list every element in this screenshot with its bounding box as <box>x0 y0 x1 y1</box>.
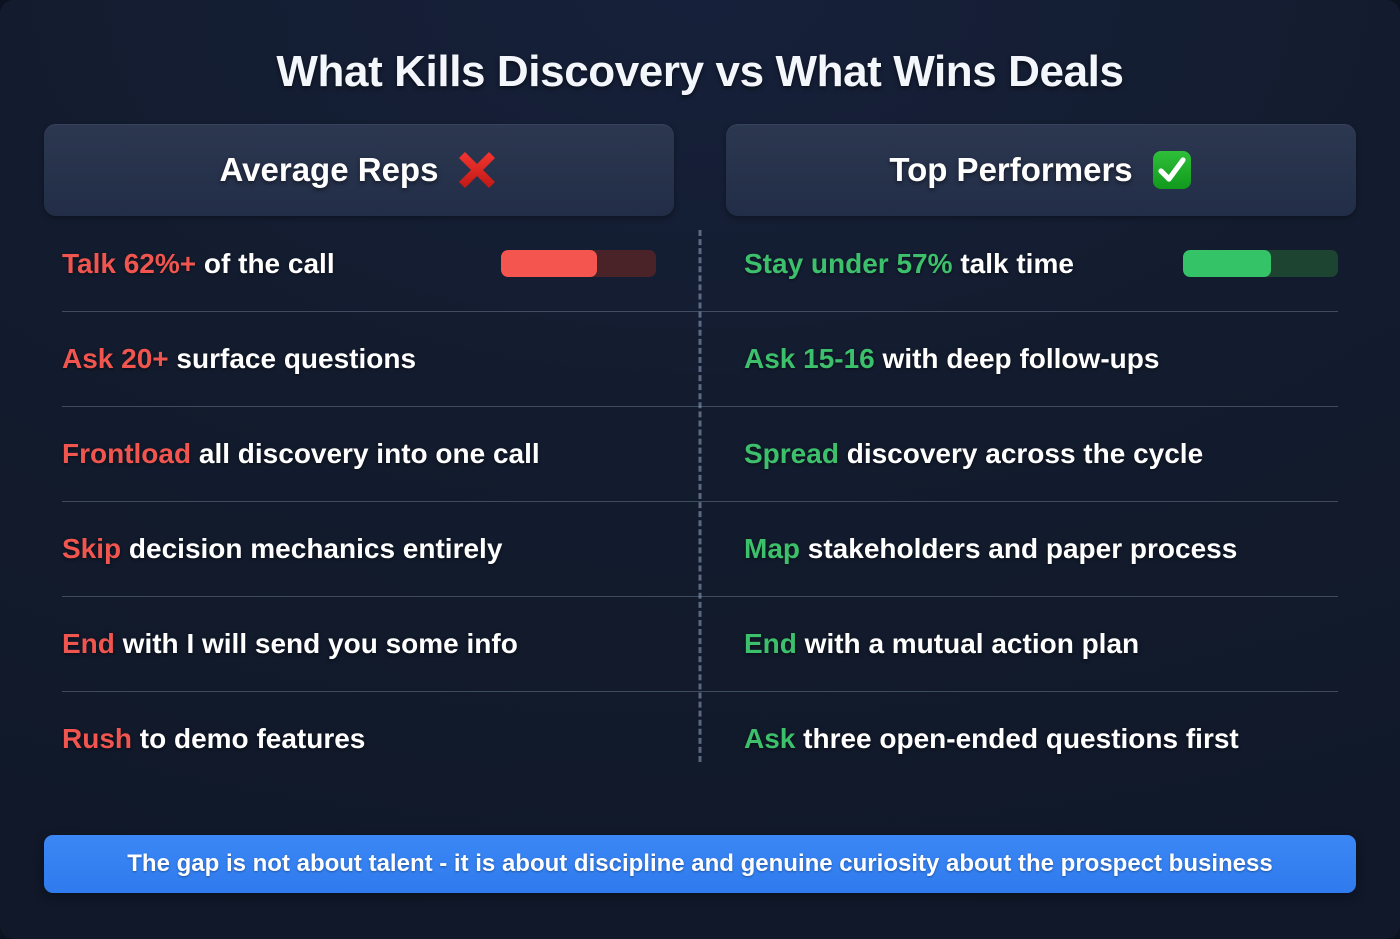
row-rest: with deep follow-ups <box>883 343 1160 374</box>
row-highlight: Rush <box>62 723 132 754</box>
row-text: Rush to demo features <box>62 723 365 755</box>
infographic-root: What Kills Discovery vs What Wins Deals … <box>0 0 1400 939</box>
column-header-average-reps: Average Reps <box>44 124 674 216</box>
row-highlight: Stay under 57% <box>744 248 953 279</box>
row-highlight: Ask <box>744 723 795 754</box>
cell-average-reps: Frontload all discovery into one call <box>44 406 674 501</box>
page-title: What Kills Discovery vs What Wins Deals <box>0 0 1400 96</box>
cell-average-reps: End with I will send you some info <box>44 596 674 691</box>
row-highlight: End <box>62 628 115 659</box>
row-highlight: Map <box>744 533 800 564</box>
row-highlight: Ask 15-16 <box>744 343 875 374</box>
talk-time-bar-average <box>501 250 656 277</box>
row-rest: all discovery into one call <box>199 438 540 469</box>
cell-top-performers: End with a mutual action plan <box>726 596 1356 691</box>
talk-time-bar-fill <box>1183 250 1271 277</box>
cell-average-reps: Skip decision mechanics entirely <box>44 501 674 596</box>
footer-text: The gap is not about talent - it is abou… <box>127 850 1272 878</box>
row-rest: talk time <box>960 248 1074 279</box>
row-rest: with I will send you some info <box>123 628 518 659</box>
row-rest: stakeholders and paper process <box>808 533 1238 564</box>
column-header-right-label: Top Performers <box>889 151 1132 189</box>
row-text: Talk 62%+ of the call <box>62 248 335 280</box>
cell-top-performers: Ask 15-16 with deep follow-ups <box>726 311 1356 406</box>
row-highlight: End <box>744 628 797 659</box>
row-text: Stay under 57% talk time <box>744 248 1074 280</box>
row-highlight: Ask 20+ <box>62 343 169 374</box>
row-highlight: Skip <box>62 533 121 564</box>
row-text: Ask 15-16 with deep follow-ups <box>744 343 1159 375</box>
column-headers: Average Reps <box>44 124 1356 216</box>
cell-average-reps: Rush to demo features <box>44 691 674 786</box>
cell-top-performers: Map stakeholders and paper process <box>726 501 1356 596</box>
cell-top-performers: Spread discovery across the cycle <box>726 406 1356 501</box>
cell-average-reps: Talk 62%+ of the call <box>44 216 674 311</box>
cell-top-performers: Ask three open-ended questions first <box>726 691 1356 786</box>
talk-time-bar-fill <box>501 250 597 277</box>
row-rest: surface questions <box>176 343 416 374</box>
column-header-top-performers: Top Performers <box>726 124 1356 216</box>
comparison-board: Average Reps <box>44 124 1356 764</box>
row-text: Ask 20+ surface questions <box>62 343 416 375</box>
row-highlight: Talk 62%+ <box>62 248 196 279</box>
row-rest: to demo features <box>140 723 366 754</box>
row-text: Ask three open-ended questions first <box>744 723 1239 755</box>
row-text: End with a mutual action plan <box>744 628 1139 660</box>
column-header-left-label: Average Reps <box>220 151 439 189</box>
row-highlight: Spread <box>744 438 839 469</box>
column-divider <box>699 230 702 762</box>
row-text: Spread discovery across the cycle <box>744 438 1203 470</box>
row-rest: three open-ended questions first <box>803 723 1239 754</box>
footer-banner: The gap is not about talent - it is abou… <box>44 835 1356 893</box>
row-text: Skip decision mechanics entirely <box>62 533 502 565</box>
row-rest: of the call <box>204 248 335 279</box>
cross-mark-icon <box>456 149 498 191</box>
cell-top-performers: Stay under 57% talk time <box>726 216 1356 311</box>
row-text: End with I will send you some info <box>62 628 518 660</box>
row-text: Map stakeholders and paper process <box>744 533 1237 565</box>
check-mark-button-icon <box>1151 149 1193 191</box>
row-rest: decision mechanics entirely <box>129 533 503 564</box>
cell-average-reps: Ask 20+ surface questions <box>44 311 674 406</box>
talk-time-bar-top <box>1183 250 1338 277</box>
row-rest: discovery across the cycle <box>847 438 1203 469</box>
row-highlight: Frontload <box>62 438 191 469</box>
row-text: Frontload all discovery into one call <box>62 438 540 470</box>
row-rest: with a mutual action plan <box>805 628 1139 659</box>
